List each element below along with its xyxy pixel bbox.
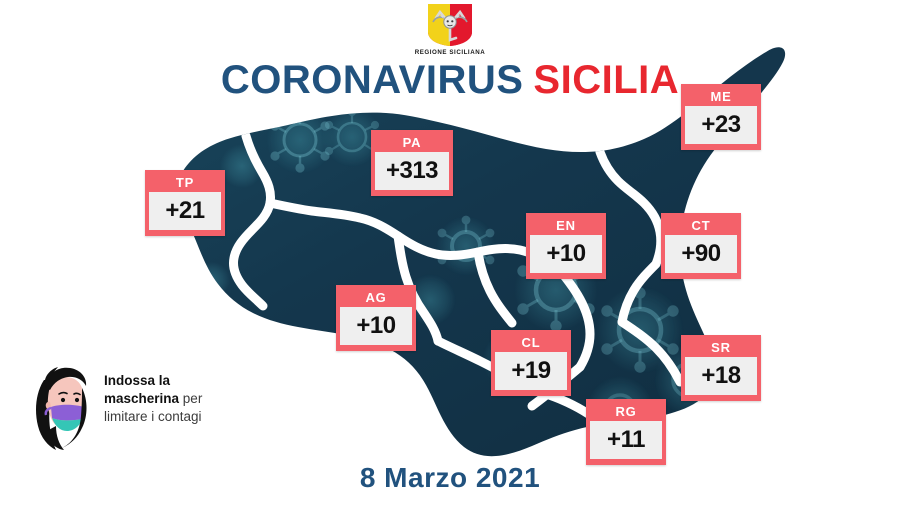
province-new-cases: +10	[530, 235, 602, 273]
province-code: PA	[375, 134, 449, 152]
report-date: 8 Marzo 2021	[0, 462, 900, 494]
province-code: ME	[685, 88, 757, 106]
mask-notice-line1: Indossa la	[104, 373, 170, 388]
province-code: TP	[149, 174, 221, 192]
province-new-cases: +19	[495, 352, 567, 390]
province-code: SR	[685, 339, 757, 357]
mask-notice-line2-rest: per	[179, 391, 202, 406]
province-code: RG	[590, 403, 662, 421]
province-badge-sr: SR+18	[681, 335, 761, 401]
title-secondary: SICILIA	[533, 58, 679, 102]
page-title: CORONAVIRUSSICILIA	[0, 60, 900, 100]
province-badge-pa: PA+313	[371, 130, 453, 196]
province-new-cases: +313	[375, 152, 449, 190]
mask-notice-line3: limitare i contagi	[104, 409, 202, 424]
infographic-canvas: REGIONE SICILIANA CORONAVIRUSSICILIA TP+…	[0, 0, 900, 506]
province-badge-ct: CT+90	[661, 213, 741, 279]
mask-notice-line2-bold: mascherina	[104, 391, 179, 406]
title-primary: CORONAVIRUS	[221, 58, 524, 102]
province-new-cases: +90	[665, 235, 737, 273]
trinacria-emblem-icon	[426, 2, 474, 48]
mask-notice-text: Indossa la mascherina per limitare i con…	[104, 372, 269, 426]
woman-wearing-mask-icon	[26, 358, 98, 454]
province-code: EN	[530, 217, 602, 235]
mask-notice: Indossa la mascherina per limitare i con…	[26, 358, 266, 458]
province-borders	[233, 136, 680, 424]
province-badge-tp: TP+21	[145, 170, 225, 236]
province-new-cases: +21	[149, 192, 221, 230]
regione-siciliana-logo: REGIONE SICILIANA	[411, 2, 489, 60]
province-code: AG	[340, 289, 412, 307]
province-badge-en: EN+10	[526, 213, 606, 279]
province-badge-rg: RG+11	[586, 399, 666, 465]
province-badge-me: ME+23	[681, 84, 761, 150]
province-code: CT	[665, 217, 737, 235]
province-badge-ag: AG+10	[336, 285, 416, 351]
province-new-cases: +10	[340, 307, 412, 345]
province-code: CL	[495, 334, 567, 352]
province-new-cases: +11	[590, 421, 662, 459]
logo-caption: REGIONE SICILIANA	[411, 49, 489, 56]
province-badge-cl: CL+19	[491, 330, 571, 396]
province-new-cases: +23	[685, 106, 757, 144]
province-new-cases: +18	[685, 357, 757, 395]
